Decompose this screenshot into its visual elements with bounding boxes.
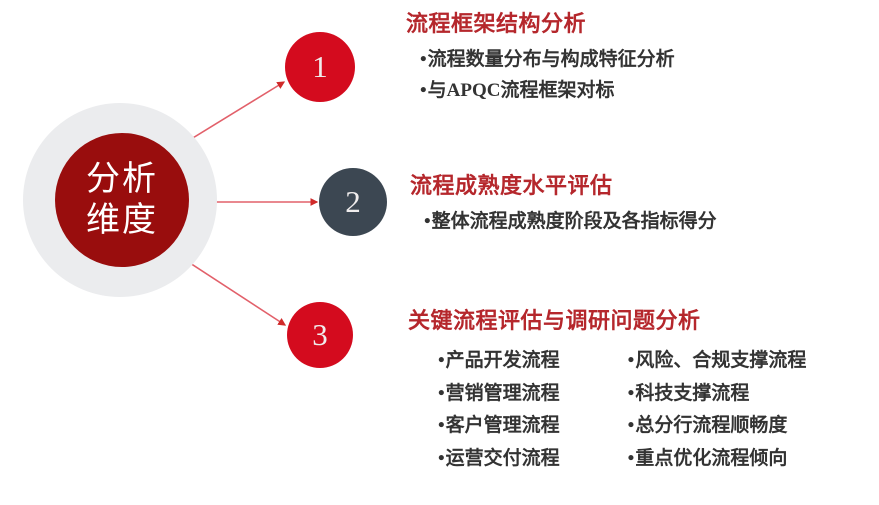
list-item: •运营交付流程 (438, 443, 560, 476)
bullet-dot-icon: • (438, 383, 445, 404)
bullet-dot-icon: • (438, 350, 445, 371)
diagram-canvas: 分析 维度 1 2 3 流程框架结构分析 •流程数量分布与构成特征分析 •与AP… (0, 0, 879, 505)
section-2-bullet-list: •整体流程成熟度阶段及各指标得分 (424, 207, 717, 238)
list-item-label: 产品开发流程 (446, 350, 560, 371)
node-number-2: 2 (345, 184, 361, 220)
bullet-dot-icon: • (628, 350, 635, 371)
list-item-label: 客户管理流程 (446, 415, 560, 436)
bullet-dot-icon: • (438, 415, 445, 436)
bullet-dot-icon: • (420, 80, 427, 101)
section-1-bullet-list: •流程数量分布与构成特征分析 •与APQC流程框架对标 (420, 45, 675, 107)
list-item-label: 营销管理流程 (446, 383, 560, 404)
list-item-label: 流程数量分布与构成特征分析 (428, 49, 675, 70)
list-item: •科技支撑流程 (628, 378, 807, 411)
bullet-dot-icon: • (424, 211, 431, 232)
hub-circle[interactable]: 分析 维度 (55, 133, 189, 267)
list-item-label: 风险、合规支撑流程 (635, 350, 806, 371)
list-item-label: 科技支撑流程 (635, 383, 749, 404)
section-2: 流程成熟度水平评估 •整体流程成熟度阶段及各指标得分 (410, 168, 717, 238)
bullet-dot-icon: • (628, 448, 635, 469)
list-item: •风险、合规支撑流程 (628, 345, 807, 378)
list-item-label: 运营交付流程 (446, 448, 560, 469)
node-circle-3[interactable]: 3 (287, 302, 353, 368)
list-item-label: 重点优化流程倾向 (635, 448, 787, 469)
list-item: •客户管理流程 (438, 410, 560, 443)
list-item: •总分行流程顺畅度 (628, 410, 807, 443)
list-item: •产品开发流程 (438, 345, 560, 378)
node-number-3: 3 (312, 317, 328, 353)
section-3-heading: 关键流程评估与调研问题分析 (408, 303, 806, 335)
list-item: •整体流程成熟度阶段及各指标得分 (424, 207, 717, 238)
bullet-dot-icon: • (420, 49, 427, 70)
section-2-heading: 流程成熟度水平评估 (410, 168, 717, 200)
bullet-dot-icon: • (628, 383, 635, 404)
section-1-heading: 流程框架结构分析 (406, 6, 675, 38)
node-circle-1[interactable]: 1 (285, 32, 355, 102)
list-item: •重点优化流程倾向 (628, 443, 807, 476)
bullet-dot-icon: • (438, 448, 445, 469)
node-circle-2[interactable]: 2 (319, 168, 387, 236)
list-item: •流程数量分布与构成特征分析 (420, 45, 675, 76)
section-3-bullet-list-right: •风险、合规支撑流程 •科技支撑流程 •总分行流程顺畅度 •重点优化流程倾向 (628, 345, 807, 476)
node-number-1: 1 (312, 49, 328, 85)
section-3: 关键流程评估与调研问题分析 •产品开发流程 •营销管理流程 •客户管理流程 •运… (408, 303, 806, 476)
list-item: •营销管理流程 (438, 378, 560, 411)
section-1: 流程框架结构分析 •流程数量分布与构成特征分析 •与APQC流程框架对标 (406, 6, 675, 107)
section-3-columns: •产品开发流程 •营销管理流程 •客户管理流程 •运营交付流程 •风险、合规支撑… (438, 345, 806, 476)
section-3-bullet-list-left: •产品开发流程 •营销管理流程 •客户管理流程 •运营交付流程 (438, 345, 560, 476)
list-item: •与APQC流程框架对标 (420, 76, 675, 107)
list-item-label: 与APQC流程框架对标 (428, 80, 615, 101)
list-item-label: 总分行流程顺畅度 (635, 415, 787, 436)
bullet-dot-icon: • (628, 415, 635, 436)
hub-label: 分析 维度 (86, 159, 158, 242)
list-item-label: 整体流程成熟度阶段及各指标得分 (432, 211, 717, 232)
